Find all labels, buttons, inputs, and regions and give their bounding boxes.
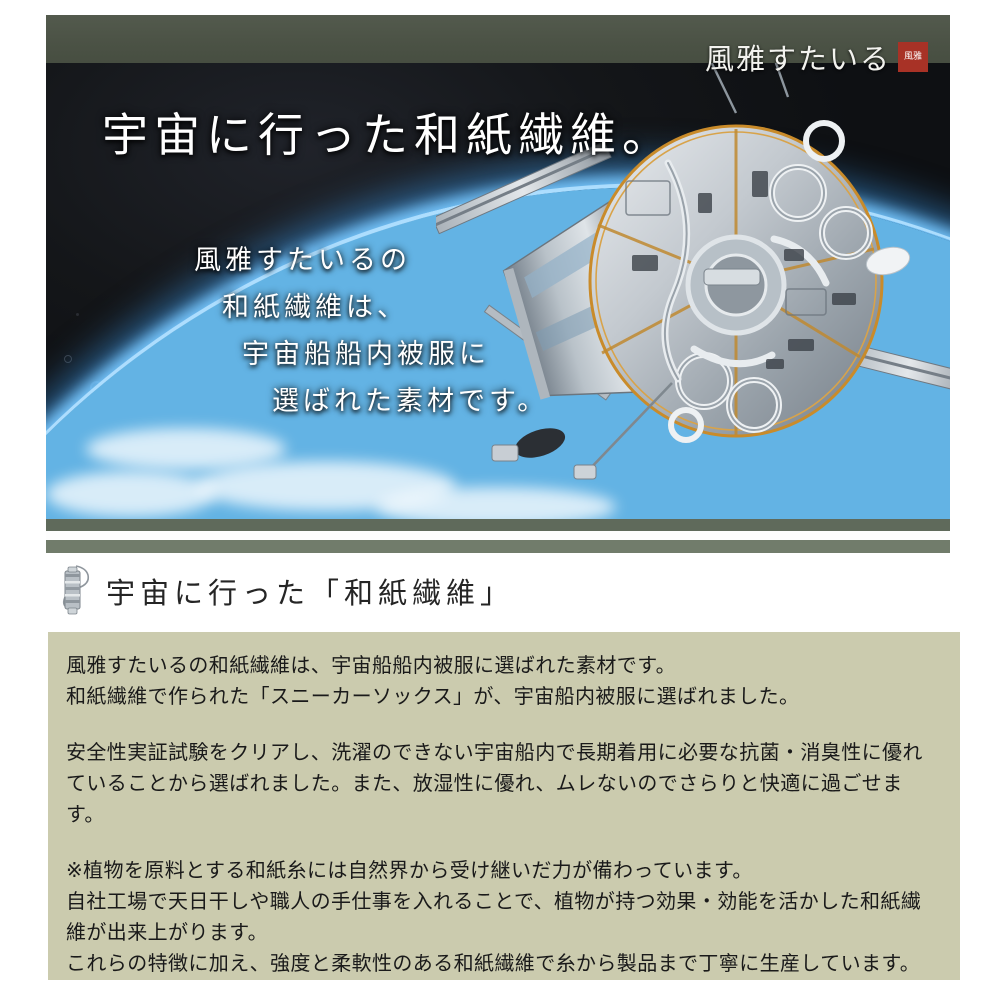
banner-headline: 宇宙に行った和紙繊維。: [102, 99, 674, 165]
section-heading: 宇宙に行った「和紙繊維」: [58, 565, 514, 617]
brand-logo-text: 風雅すたいる: [705, 36, 891, 78]
content-paragraph-2: 安全性実証試験をクリアし、洗濯のできない宇宙船内で長期着用に必要な抗菌・消臭性に…: [66, 737, 938, 830]
thread-spool-icon: [58, 565, 92, 617]
banner-bottom-bar-lower: [46, 540, 950, 553]
brand-logo: 風雅すたいる 風雅: [705, 36, 928, 78]
content-paragraph-3: ※植物を原料とする和紙糸には自然界から受け継いだ力が備わっています。自社工場で天…: [66, 855, 938, 979]
banner-bottom-gap: [46, 531, 950, 540]
content-paragraph-1: 風雅すたいるの和紙繊維は、宇宙船船内被服に選ばれた素材です。和紙繊維で作られた「…: [66, 650, 938, 712]
content-panel: 風雅すたいるの和紙繊維は、宇宙船船内被服に選ばれた素材です。和紙繊維で作られた「…: [48, 632, 960, 980]
banner-bottom-bar-upper: [46, 519, 950, 531]
hero-banner: 風雅すたいる 風雅 宇宙に行った和紙繊維。 風雅すたいるの 和紙繊維は、 宇宙船…: [46, 15, 950, 553]
banner-subtitle-line-3: 宇宙船船内被服に: [46, 331, 606, 378]
banner-subtitle-line-2: 和紙繊維は、: [46, 284, 606, 331]
banner-subtitle: 風雅すたいるの 和紙繊維は、 宇宙船船内被服に 選ばれた素材です。: [46, 237, 606, 425]
banner-subtitle-line-4: 選ばれた素材です。: [46, 378, 606, 425]
section-heading-title: 宇宙に行った「和紙繊維」: [106, 570, 514, 612]
seal-stamp-icon: 風雅: [898, 42, 928, 72]
banner-subtitle-line-1: 風雅すたいるの: [46, 237, 606, 284]
